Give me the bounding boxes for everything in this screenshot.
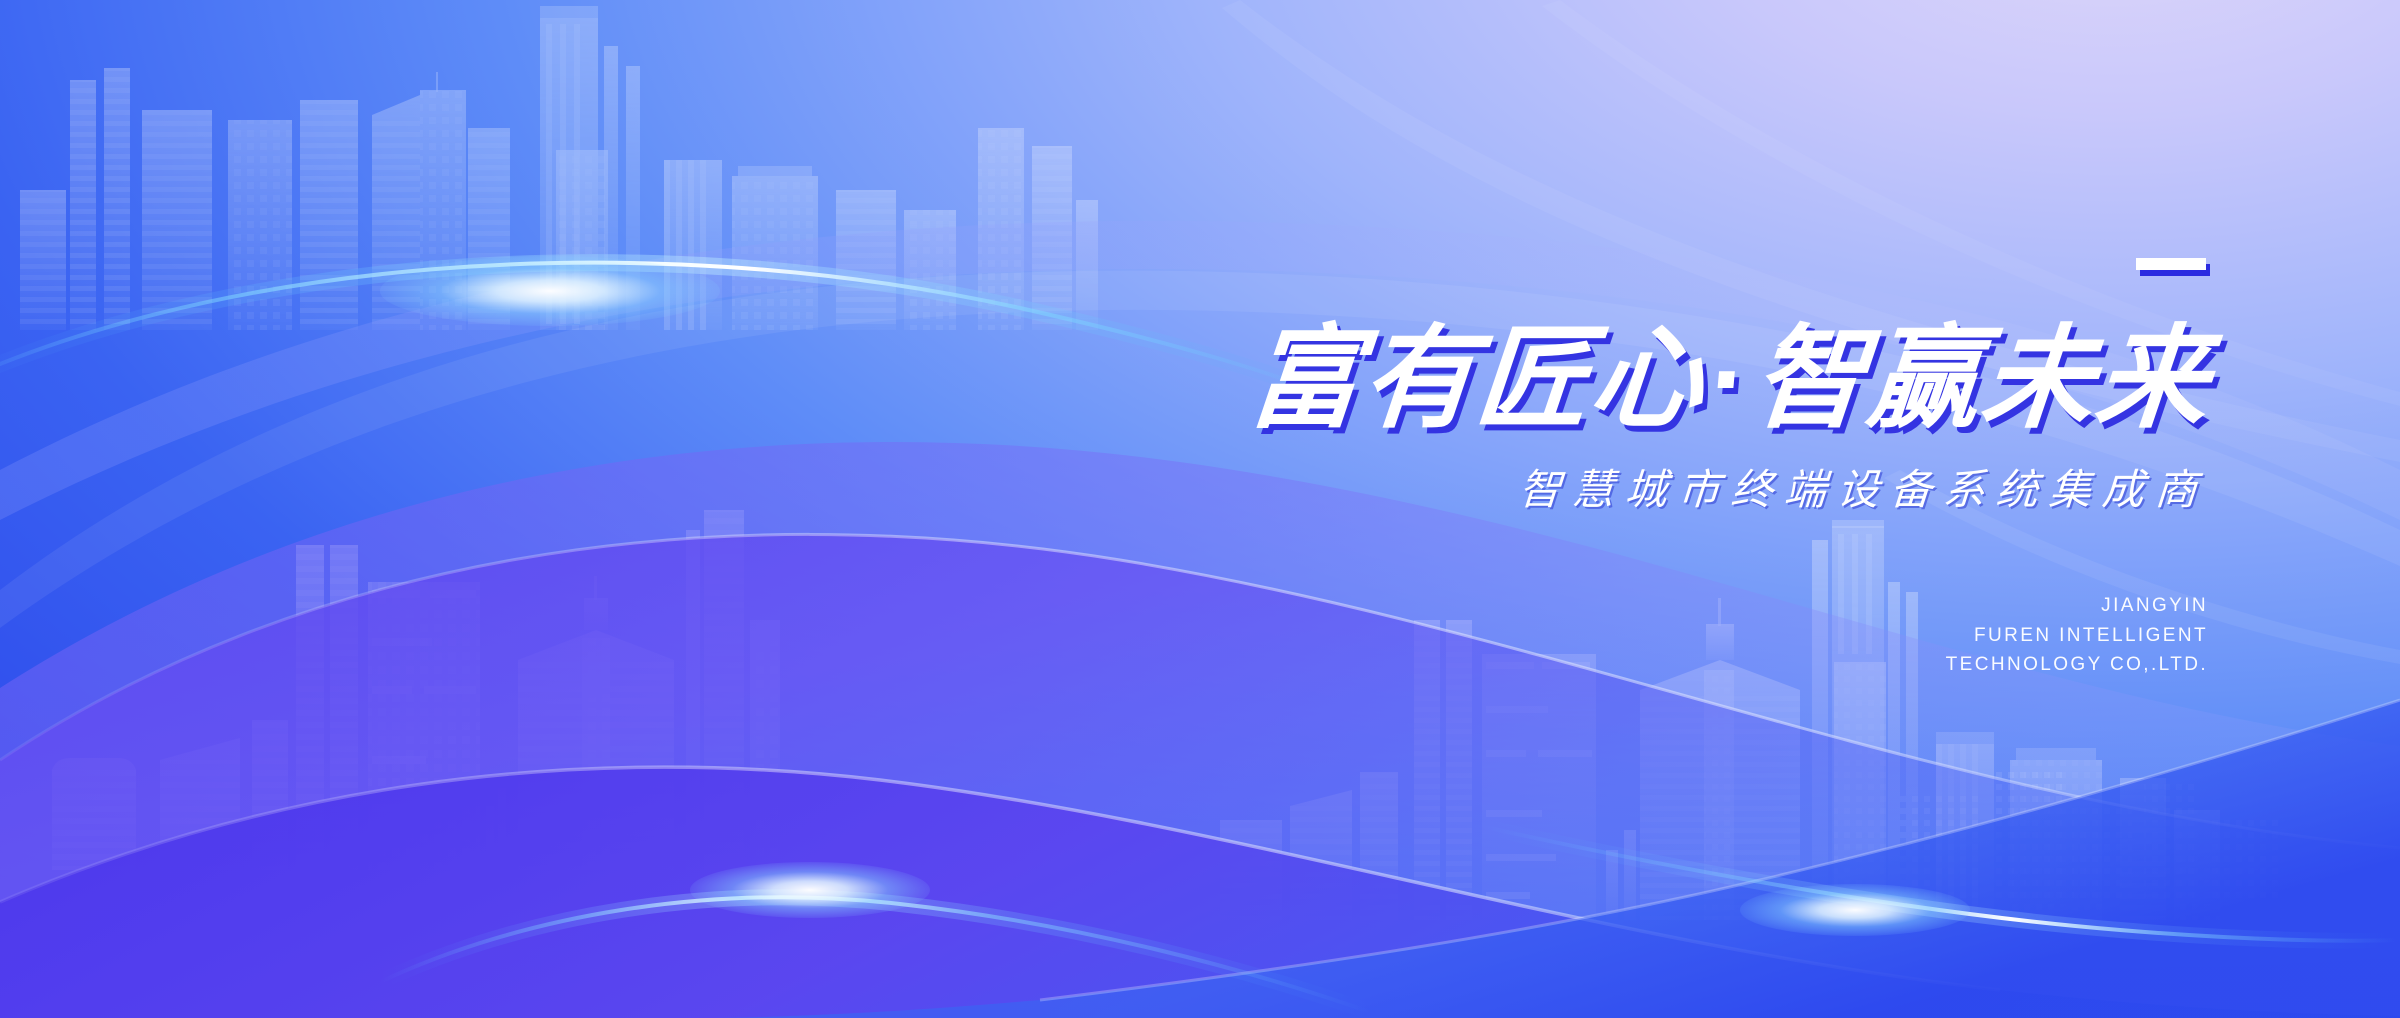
title-part-left: 富有匠心 — [1243, 316, 1710, 441]
glow-arc-lower-right — [1480, 800, 2400, 1000]
glow-hotspot-lower-left — [690, 862, 930, 918]
accent-dash-row — [1050, 258, 2210, 323]
title-part-right: 智赢未来 — [1749, 316, 2216, 441]
company-name-line-2: FUREN INTELLIGENT — [1050, 621, 2210, 650]
page-title: 富有匠心·智赢未来 — [1045, 323, 2215, 435]
glow-hotspot-upper — [380, 256, 720, 326]
city-skyline-silhouette-far-right — [1900, 760, 2400, 900]
banner-canvas: 富有匠心·智赢未来 智慧城市终端设备系统集成商 JIANGYIN FUREN I… — [0, 0, 2400, 1018]
city-skyline-silhouette-mid-left — [0, 470, 780, 870]
glow-hotspot-lower-right — [1740, 884, 1970, 936]
company-name-line-1: JIANGYIN — [1050, 591, 2210, 620]
horizontal-dash-mark-icon — [2136, 258, 2206, 270]
city-skyline-silhouette-top — [0, 0, 1100, 330]
headline-copy-block: 富有匠心·智赢未来 智慧城市终端设备系统集成商 JIANGYIN FUREN I… — [1050, 258, 2210, 680]
glow-arc-lower-left — [380, 820, 1380, 1018]
page-subtitle: 智慧城市终端设备系统集成商 — [1048, 465, 2212, 515]
company-name-block: JIANGYIN FUREN INTELLIGENT TECHNOLOGY CO… — [1050, 591, 2210, 679]
company-name-line-3: TECHNOLOGY CO,.LTD. — [1050, 650, 2210, 679]
